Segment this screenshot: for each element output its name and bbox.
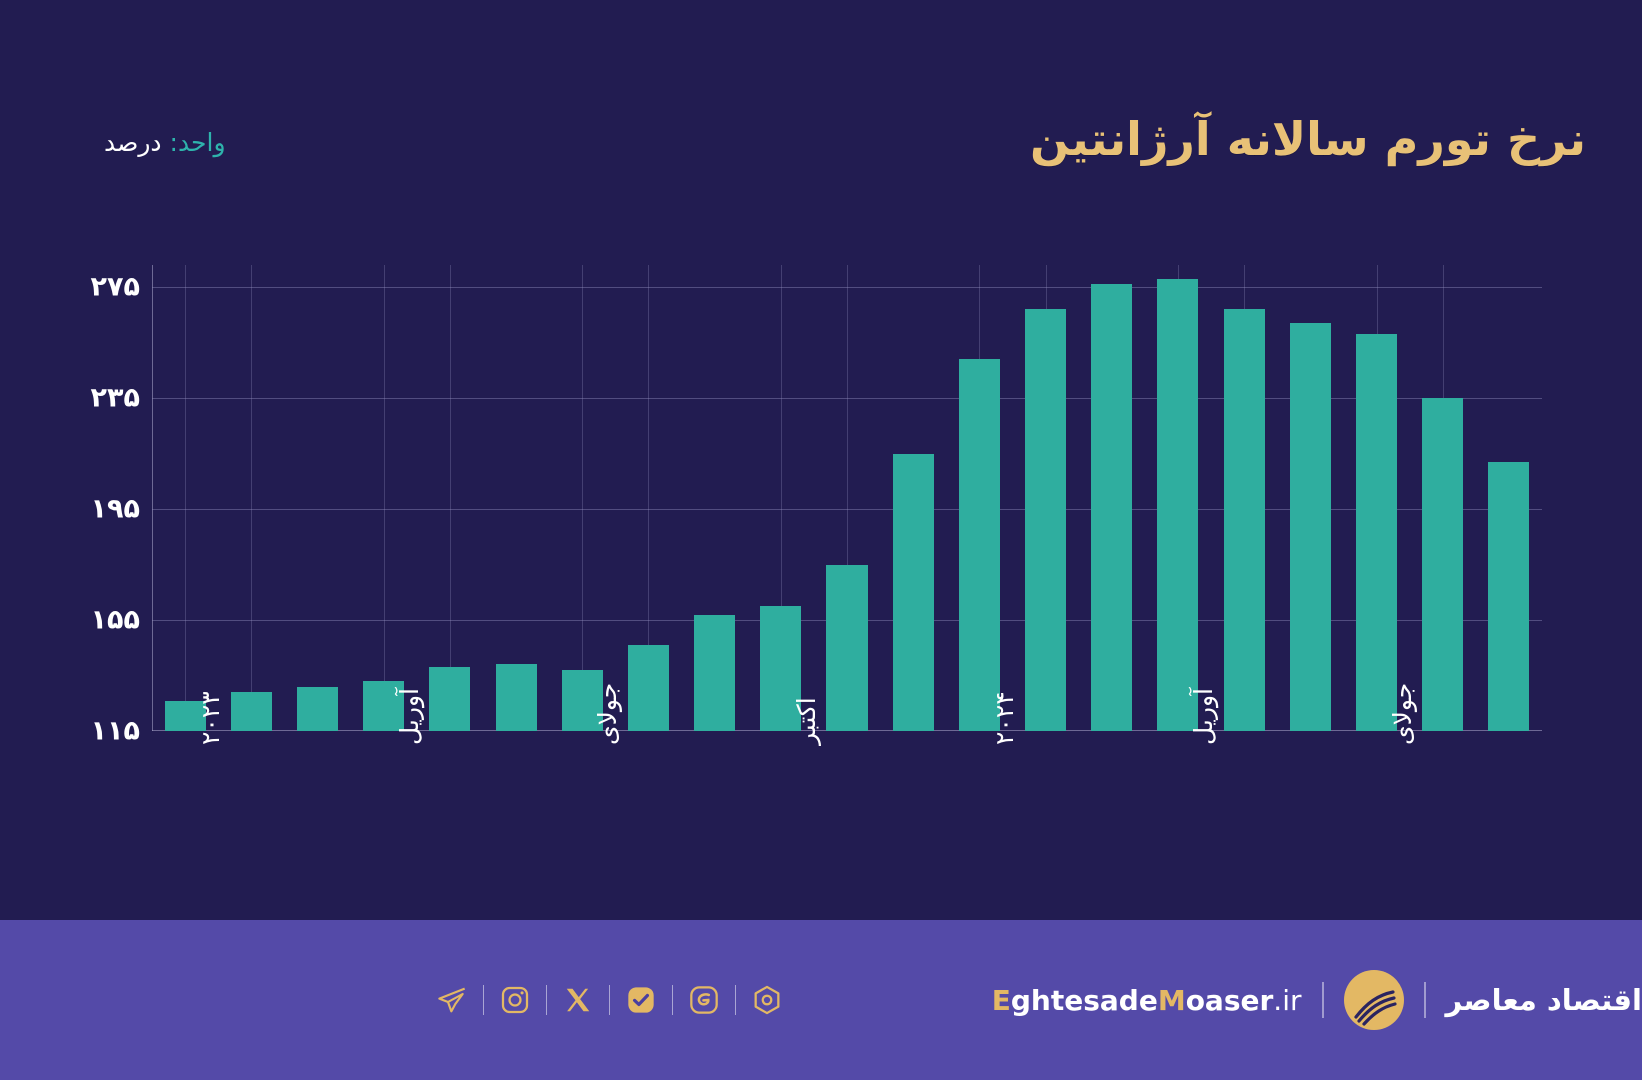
- x-twitter-icon[interactable]: [561, 983, 595, 1017]
- bar: [628, 645, 669, 731]
- brand-name-fa: اقتصاد معاصر: [1446, 983, 1642, 1017]
- bar: [1224, 309, 1265, 731]
- x-axis-tick-label: ۲۰۲۴: [990, 691, 1019, 745]
- page-title: نرخ تورم سالانه آرژانتین: [1030, 112, 1586, 166]
- divider: [609, 985, 610, 1015]
- x-axis-tick-label: جولای: [1388, 683, 1417, 745]
- x-axis-tick-label: اکتبر: [792, 697, 821, 745]
- bar-series: [152, 265, 1542, 731]
- divider: [1322, 982, 1324, 1018]
- divider: [546, 985, 547, 1015]
- logo-icon: [1344, 970, 1404, 1030]
- footer-branding: اقتصاد معاصر EghtesadeMoaser.ir: [888, 970, 1642, 1030]
- brand-en-ghtesade: ghtesade: [1011, 984, 1158, 1017]
- footer-bar: اقتصاد معاصر EghtesadeMoaser.ir: [0, 920, 1642, 1080]
- unit-note: واحد: درصد: [104, 128, 226, 157]
- social-links: [435, 983, 888, 1017]
- bar: [429, 667, 470, 731]
- bar: [1356, 334, 1397, 731]
- divider: [735, 985, 736, 1015]
- bar: [694, 615, 735, 732]
- brand-en-m: M: [1158, 984, 1186, 1017]
- instagram-icon[interactable]: [498, 983, 532, 1017]
- brand-name-en: EghtesadeMoaser.ir: [992, 984, 1302, 1017]
- bar: [959, 359, 1000, 731]
- telegram-icon[interactable]: [435, 983, 469, 1017]
- bar: [1488, 462, 1529, 731]
- x-axis-tick-label: جولای: [593, 683, 622, 745]
- brand-en-e: E: [992, 984, 1011, 1017]
- y-axis-tick-label: ۲۳۵: [20, 383, 140, 414]
- x-axis-tick-label: آوریل: [1189, 688, 1218, 745]
- x-axis-tick-label: ۲۰۲۳: [196, 691, 225, 745]
- bar: [496, 664, 537, 731]
- brand-en-tld: .ir: [1273, 984, 1301, 1017]
- divider: [672, 985, 673, 1015]
- y-axis-tick-label: ۲۷۵: [20, 272, 140, 303]
- brand-en-oaser: oaser: [1186, 984, 1274, 1017]
- bar: [826, 565, 867, 731]
- aparat-check-icon[interactable]: [624, 983, 658, 1017]
- bar: [297, 687, 338, 731]
- bar: [1290, 323, 1331, 731]
- bale-hexagon-icon[interactable]: [750, 983, 784, 1017]
- eitaa-icon[interactable]: [687, 983, 721, 1017]
- bar: [1091, 284, 1132, 731]
- infographic-canvas: نرخ تورم سالانه آرژانتین واحد: درصد ۱۱۵۱…: [0, 0, 1642, 1080]
- bar: [1422, 398, 1463, 731]
- divider: [1424, 982, 1426, 1018]
- unit-value: درصد: [104, 128, 162, 157]
- chart-plot-area: [152, 265, 1542, 731]
- y-axis-tick-label: ۱۹۵: [20, 494, 140, 525]
- bar: [1157, 279, 1198, 731]
- bar: [231, 692, 272, 731]
- y-axis-tick-label: ۱۵۵: [20, 605, 140, 636]
- y-axis-tick-label: ۱۱۵: [20, 716, 140, 747]
- x-axis-tick-label: آوریل: [395, 688, 424, 745]
- bar: [893, 454, 934, 731]
- divider: [483, 985, 484, 1015]
- unit-label: واحد:: [170, 128, 226, 157]
- bar: [1025, 309, 1066, 731]
